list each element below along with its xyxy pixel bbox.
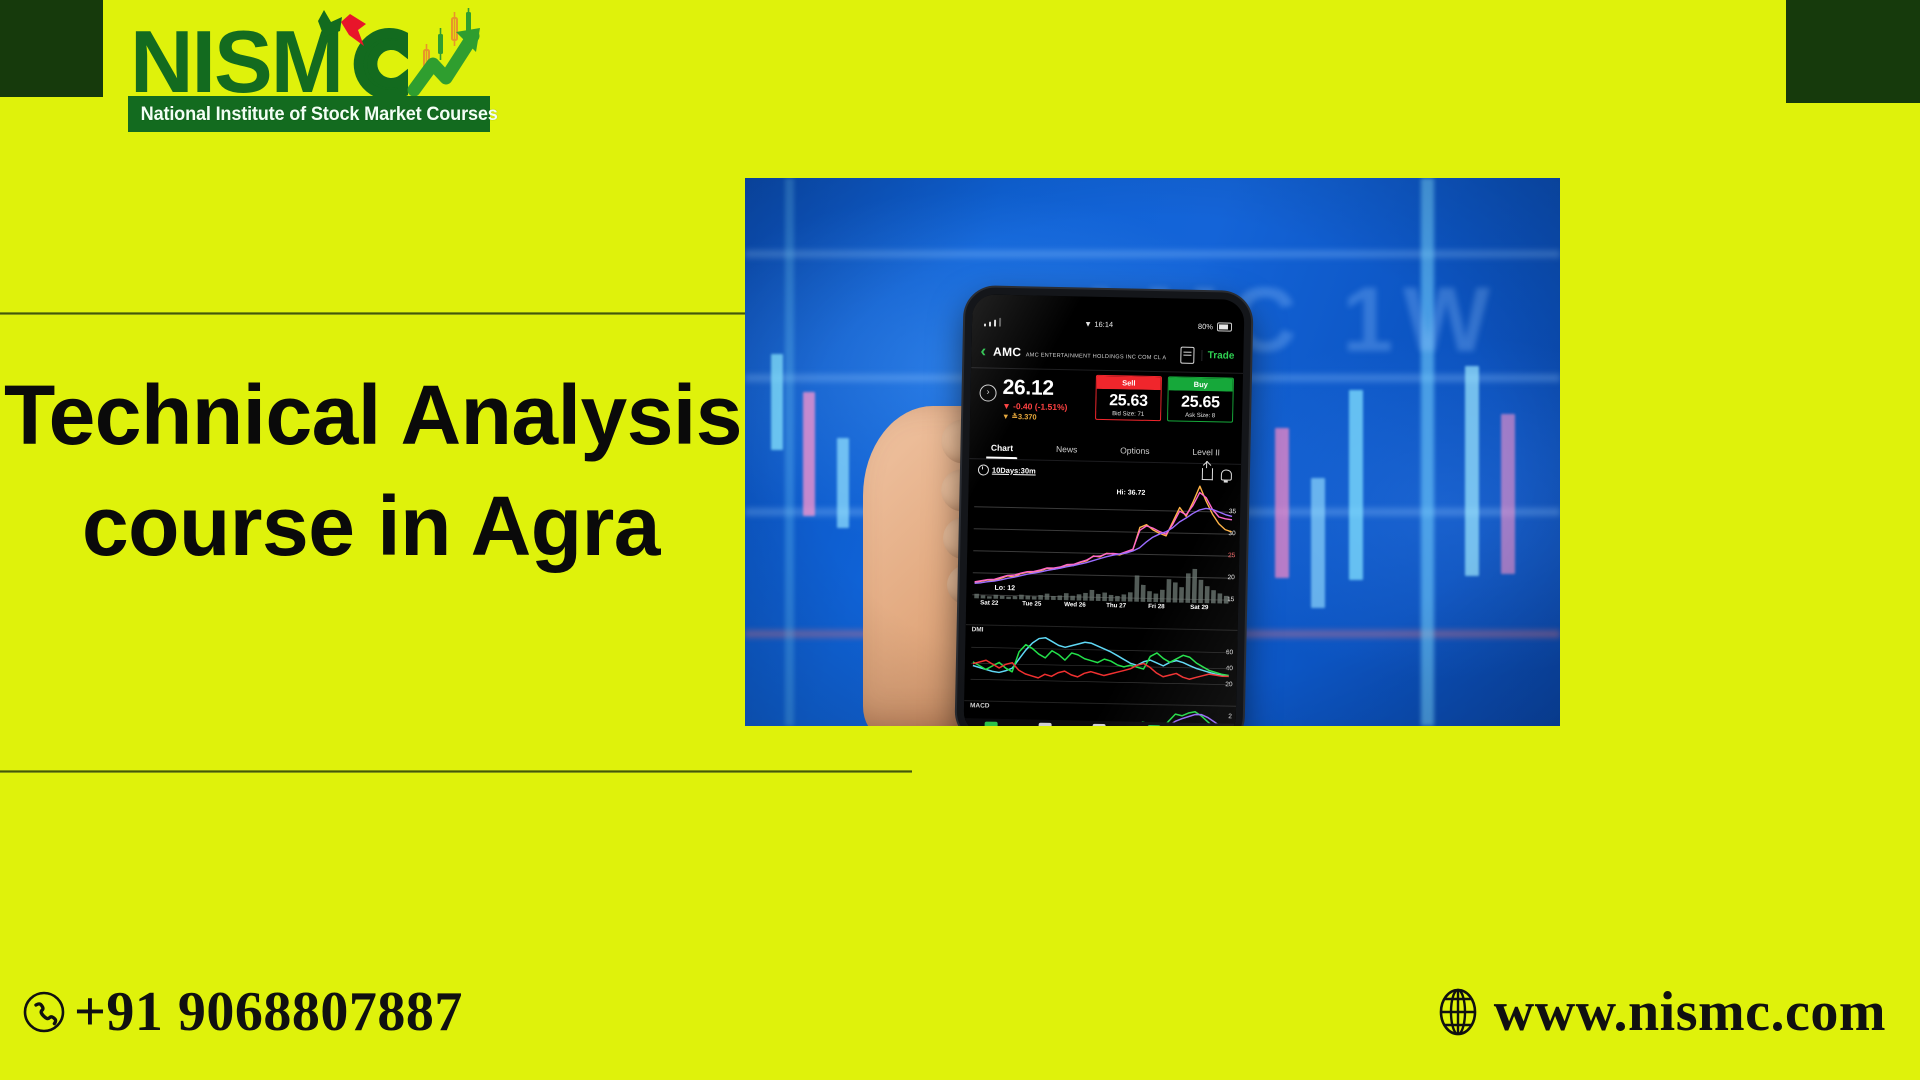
dmi-chart-svg bbox=[964, 625, 1237, 705]
trade-button[interactable]: Trade bbox=[1202, 350, 1235, 362]
range-selector[interactable]: 10Days:30m bbox=[978, 464, 1036, 476]
corner-block-top-left bbox=[0, 0, 103, 97]
nav-icon-2[interactable] bbox=[1039, 722, 1052, 726]
status-bar: ▾ 16:14 80% bbox=[972, 314, 1244, 334]
buy-price: 25.65 bbox=[1168, 390, 1232, 413]
bg-candle bbox=[1275, 428, 1289, 578]
phone-screen[interactable]: ▾ 16:14 80% ‹ AMC AMC ENTERTAIN bbox=[963, 294, 1244, 726]
page-title-line2: course in Agra bbox=[0, 471, 742, 582]
sell-order-box[interactable]: Sell 25.63 Bid Size: 71 bbox=[1095, 375, 1162, 421]
bg-gridline bbox=[745, 250, 1560, 258]
x-tick: Sat 29 bbox=[1190, 604, 1208, 611]
bg-candle bbox=[1501, 414, 1515, 574]
page-title: Technical Analysis course in Agra bbox=[0, 360, 742, 582]
tab-level2[interactable]: Level II bbox=[1192, 447, 1220, 458]
bg-candle bbox=[1311, 478, 1325, 608]
bg-candle bbox=[837, 438, 849, 528]
x-tick: Sat 22 bbox=[980, 599, 998, 606]
ticker-info: AMC AMC ENTERTAINMENT HOLDINGS INC COM C… bbox=[993, 342, 1174, 364]
last-price: 26.12 bbox=[1002, 377, 1068, 400]
battery-percent: 80% bbox=[1198, 321, 1213, 330]
bg-candle bbox=[803, 392, 815, 516]
website-url: www.nismc.com bbox=[1494, 984, 1886, 1040]
x-tick: Fri 28 bbox=[1148, 603, 1165, 610]
divider-bottom bbox=[0, 770, 912, 773]
bid-size: Bid Size: 71 bbox=[1096, 411, 1160, 420]
status-time: 16:14 bbox=[1094, 319, 1113, 328]
share-icon[interactable] bbox=[1202, 468, 1213, 480]
app-navbar: ‹ AMC AMC ENTERTAINMENT HOLDINGS INC COM… bbox=[971, 334, 1244, 374]
page-title-line1: Technical Analysis bbox=[0, 360, 742, 471]
bell-alert-icon[interactable] bbox=[1221, 469, 1232, 480]
corner-block-top-right bbox=[1786, 0, 1920, 103]
quote-panel: › 26.12 ▼ -0.40 (-1.51%) ▼ ≛3.370 Sell 2… bbox=[970, 372, 1243, 440]
smartphone: ▾ 16:14 80% ‹ AMC AMC ENTERTAIN bbox=[956, 287, 1251, 726]
bg-candle bbox=[1465, 366, 1479, 576]
bg-vertical-bar bbox=[785, 178, 794, 726]
bg-candle bbox=[1349, 390, 1363, 580]
nav-icon-1[interactable] bbox=[984, 721, 997, 726]
phone-number: +91 9068807887 bbox=[74, 984, 463, 1040]
signal-icon bbox=[984, 317, 1001, 326]
company-name: AMC ENTERTAINMENT HOLDINGS INC COM CL A bbox=[1026, 352, 1167, 361]
ticker-symbol: AMC bbox=[993, 344, 1022, 359]
wifi-icon: ▾ bbox=[1086, 318, 1091, 329]
document-icon[interactable] bbox=[1181, 347, 1195, 364]
price-chart[interactable]: 35 30 25 20 15 Hi: 36.72 Lo: 12 Sat 22 T… bbox=[966, 480, 1241, 614]
clock-icon bbox=[978, 464, 989, 475]
logo-tagline-band: National Institute of Stock Market Cours… bbox=[128, 96, 490, 132]
nav-icon-4[interactable] bbox=[1147, 724, 1160, 726]
logo-tagline: National Institute of Stock Market Cours… bbox=[141, 96, 478, 132]
phone-contact[interactable]: +91 9068807887 bbox=[22, 984, 463, 1040]
extended-change: ▼ ≛3.370 bbox=[1002, 412, 1067, 422]
contact-bar: +91 9068807887 www.nismc.com bbox=[0, 962, 1920, 1080]
buy-label: Buy bbox=[1169, 377, 1233, 391]
ask-size: Ask Size: 8 bbox=[1168, 412, 1232, 421]
sell-label: Sell bbox=[1097, 376, 1161, 390]
tab-options[interactable]: Options bbox=[1120, 445, 1149, 456]
x-tick: Tue 25 bbox=[1022, 600, 1041, 607]
chevron-right-circle-icon[interactable]: › bbox=[979, 384, 996, 401]
nav-icon-3[interactable] bbox=[1093, 723, 1106, 726]
website-contact[interactable]: www.nismc.com bbox=[1436, 984, 1886, 1040]
sell-price: 25.63 bbox=[1096, 389, 1160, 412]
range-label: 10Days:30m bbox=[992, 465, 1036, 475]
poster-canvas: NISM National Institute of Stock Market … bbox=[0, 0, 1920, 1080]
bg-vertical-bar bbox=[1421, 178, 1434, 726]
tab-chart[interactable]: Chart bbox=[991, 443, 1013, 453]
price-chart-svg bbox=[966, 480, 1241, 614]
dmi-chart[interactable]: DMI 60 40 20 bbox=[964, 624, 1238, 705]
phone-icon bbox=[22, 990, 66, 1034]
globe-icon bbox=[1436, 986, 1480, 1038]
bg-candle bbox=[771, 354, 783, 450]
chevron-left-icon[interactable]: ‹ bbox=[980, 342, 986, 359]
x-tick: Wed 26 bbox=[1064, 601, 1086, 608]
tab-news[interactable]: News bbox=[1056, 444, 1077, 454]
buy-order-box[interactable]: Buy 25.65 Ask Size: 8 bbox=[1167, 376, 1234, 422]
x-tick: Thu 27 bbox=[1106, 602, 1126, 609]
hero-photo: AMC 1W bbox=[745, 178, 1560, 726]
battery-icon bbox=[1217, 322, 1232, 331]
price-change: ▼ -0.40 (-1.51%) bbox=[1002, 401, 1067, 412]
